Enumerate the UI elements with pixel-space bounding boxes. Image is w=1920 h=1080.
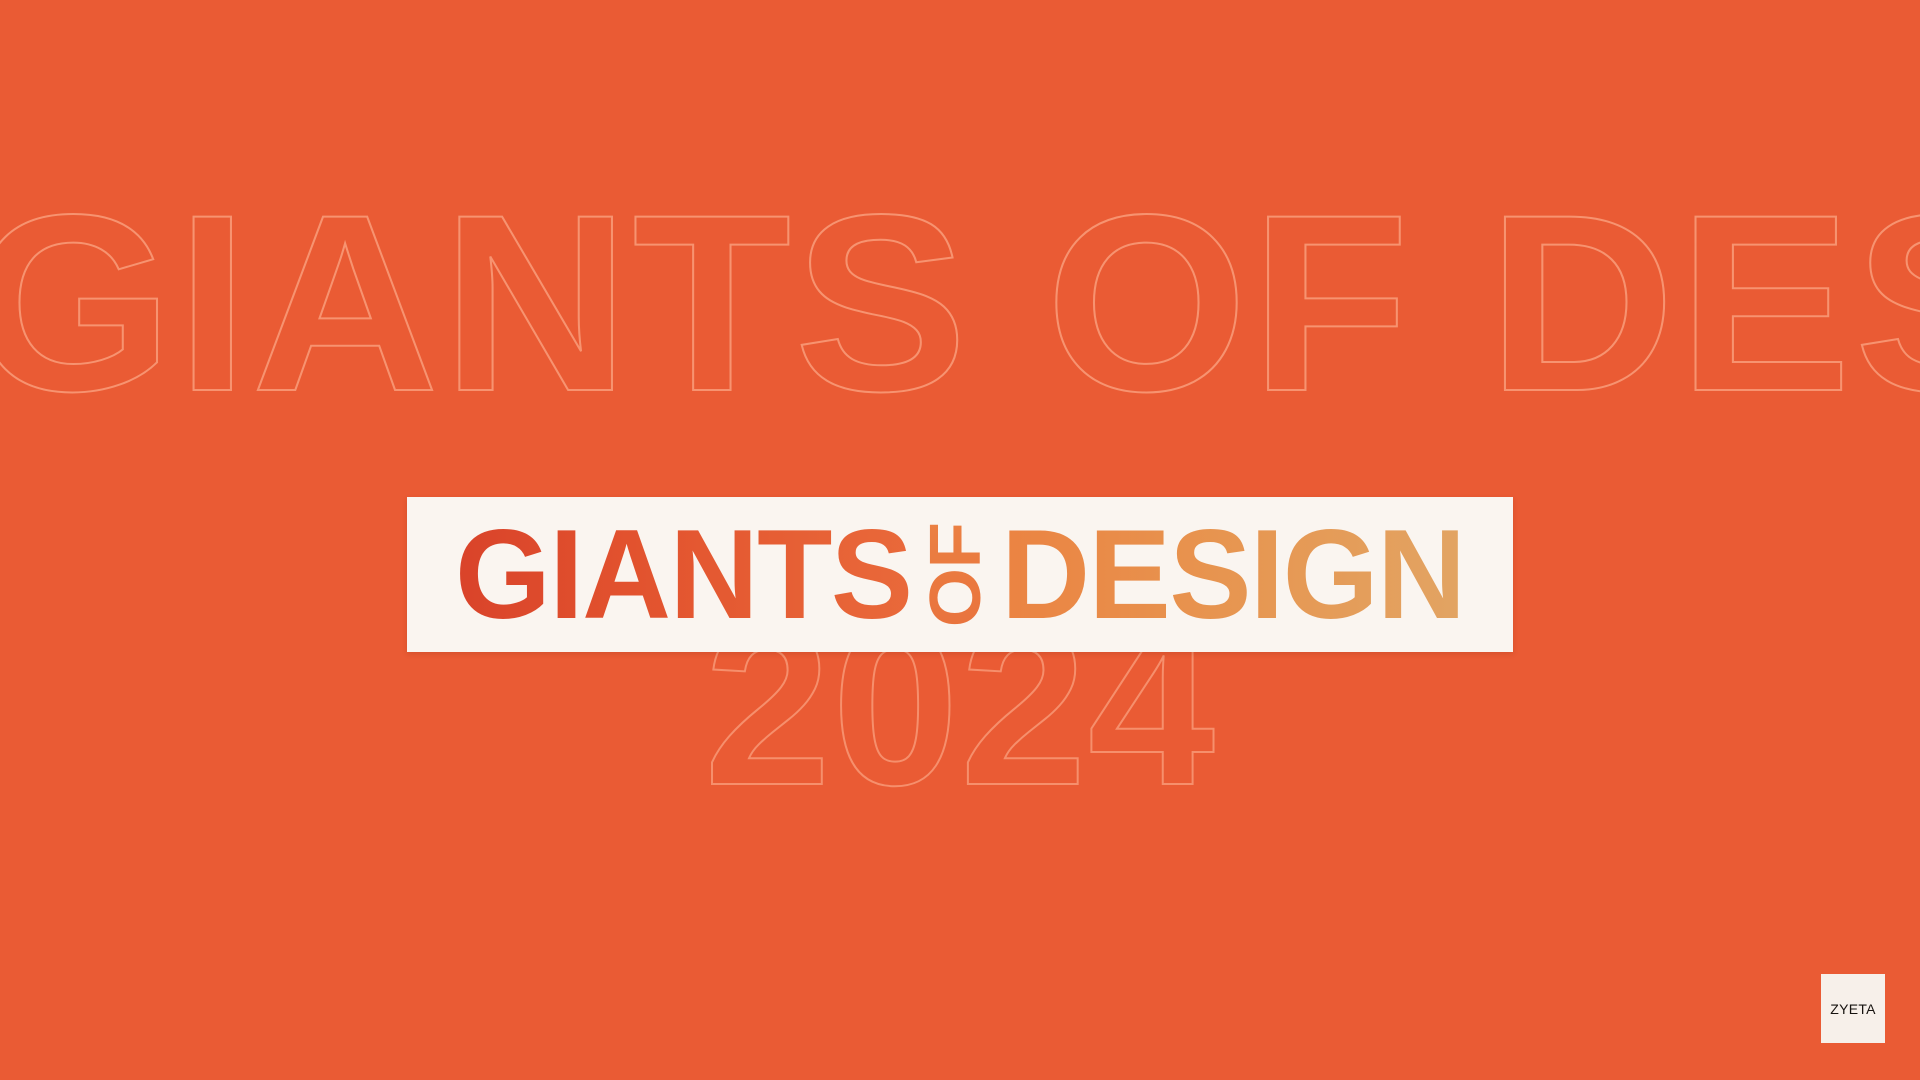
zyeta-brandmark-label: ZYETA <box>1830 1002 1875 1016</box>
logo-band: GIANTS OF DESIGN <box>407 497 1513 652</box>
logo-connector-of: OF <box>919 519 993 631</box>
logo-lockup: GIANTS OF DESIGN <box>446 497 1474 652</box>
background-outline-headline: GIANTS OF DESIGN <box>0 178 1920 430</box>
logo-word-design: DESIGN <box>1002 521 1465 628</box>
logo-word-giants: GIANTS <box>455 521 912 628</box>
logo-connector-of-text: OF <box>920 522 992 626</box>
zyeta-brandmark: ZYETA <box>1821 974 1885 1043</box>
title-slide: GIANTS OF DESIGN 2024 GIANTS OF DESIGN Z… <box>0 0 1920 1080</box>
